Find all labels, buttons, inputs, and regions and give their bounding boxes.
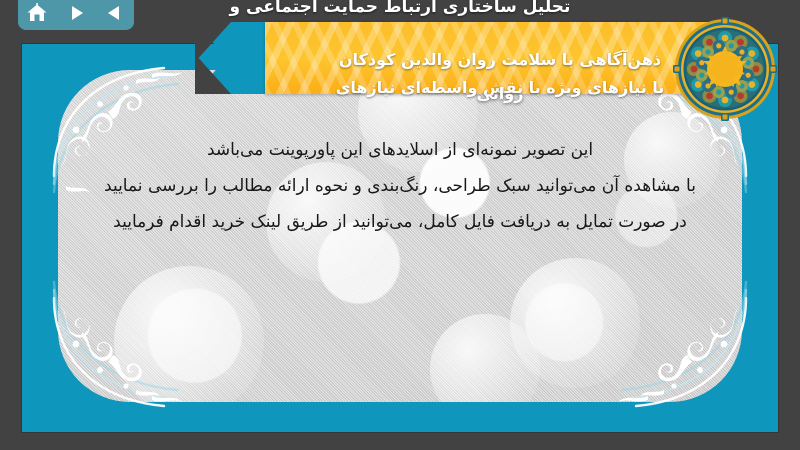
previous-slide-button[interactable]	[101, 1, 129, 25]
persian-medallion-ornament	[672, 16, 778, 122]
back-triangle-icon	[105, 3, 125, 23]
slide-navigation-bar	[18, 0, 134, 30]
home-button[interactable]	[23, 1, 51, 25]
forward-triangle-icon	[66, 3, 86, 23]
home-icon	[26, 3, 48, 23]
body-line-2: با مشاهده آن می‌توانید سبک طراحی، رنگ‌بن…	[60, 168, 740, 204]
bokeh-circle	[510, 258, 640, 388]
bokeh-circle	[430, 314, 540, 402]
next-slide-button[interactable]	[62, 1, 90, 25]
slide-viewer: این تصویر نمونه‌ای از اسلایدهای این پاور…	[0, 0, 800, 450]
body-line-3: در صورت تمایل به دریافت فایل کامل، می‌تو…	[60, 204, 740, 240]
slide-body-text: این تصویر نمونه‌ای از اسلایدهای این پاور…	[60, 132, 740, 240]
bokeh-circle	[114, 266, 264, 402]
body-line-1: این تصویر نمونه‌ای از اسلایدهای این پاور…	[60, 132, 740, 168]
